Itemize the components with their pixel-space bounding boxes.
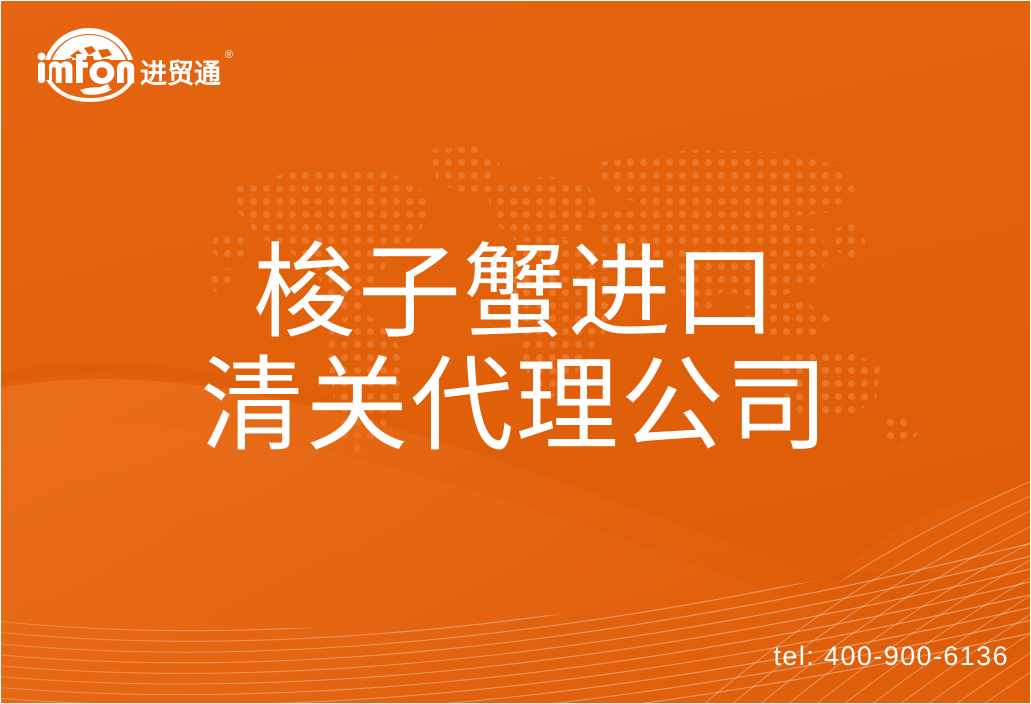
contact-phone[interactable]: tel: 400-900-6136 [774,641,1009,672]
promo-poster: 进贸通 ® 梭子蟹进口 清关代理公司 tel: 400-900-6136 [0,0,1031,704]
headline-line-2: 清关代理公司 [0,349,1031,462]
company-logo[interactable]: 进贸通 ® [36,26,246,104]
logo-chinese-name: 进贸通 [140,59,221,89]
headline-line-1: 梭子蟹进口 [0,236,1031,349]
trademark-symbol: ® [225,49,233,61]
headline: 梭子蟹进口 清关代理公司 [0,236,1031,462]
swoosh-icon [46,80,134,102]
globe-arc-icon [45,28,133,60]
